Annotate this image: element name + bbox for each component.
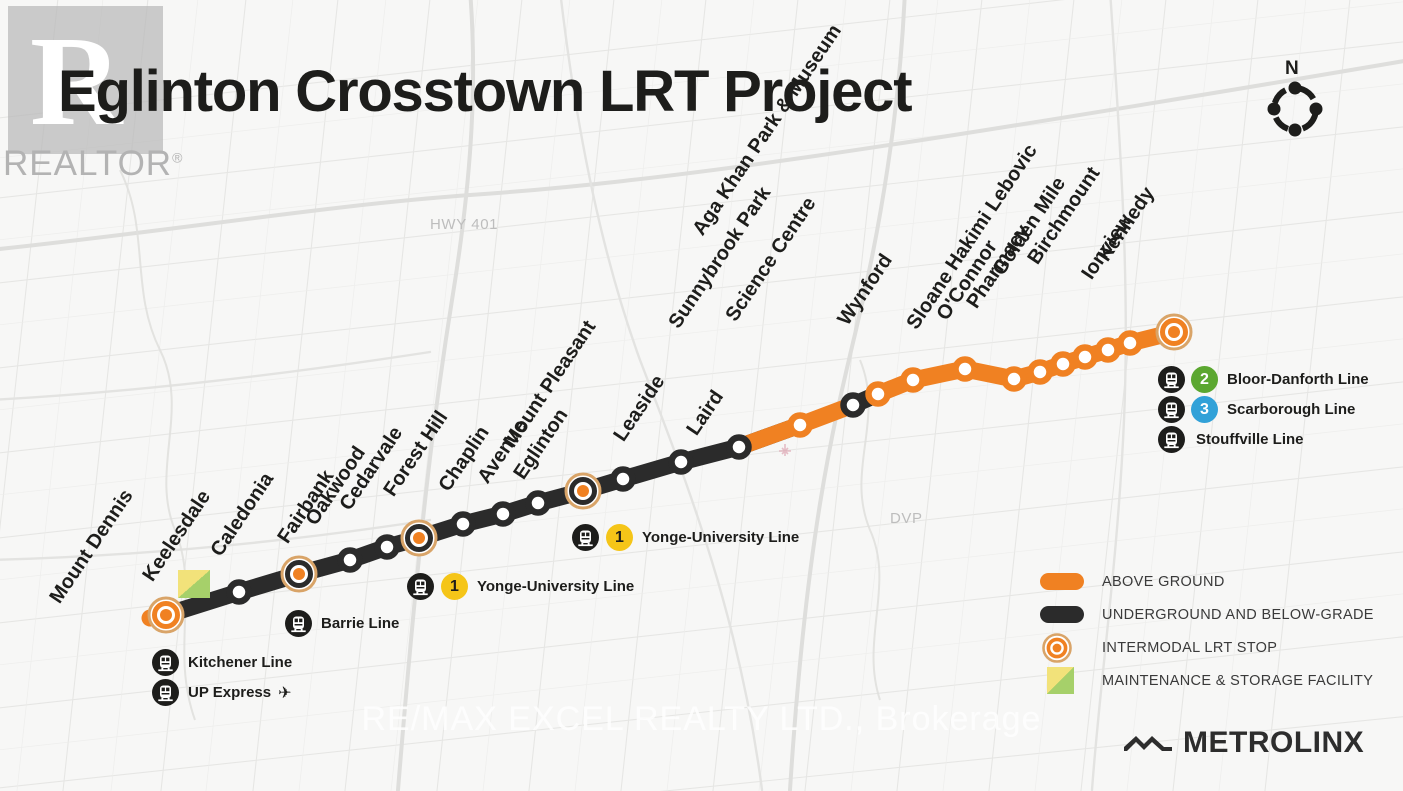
map-legend-row: MAINTENANCE & STORAGE FACILITY [1040,664,1374,697]
metrolinx-logo-icon [1122,730,1174,756]
subway-train-icon [1158,366,1185,393]
station-dot[interactable] [1099,341,1118,360]
map-legend-label: MAINTENANCE & STORAGE FACILITY [1102,673,1373,689]
maintenance-facility-icon [1047,667,1074,694]
station-dot[interactable] [791,416,810,435]
map-legend: ABOVE GROUNDUNDERGROUND AND BELOW-GRADEI… [1040,565,1374,697]
map-legend-label: UNDERGROUND AND BELOW-GRADE [1102,607,1374,623]
road-label: HWY 401 [430,216,498,233]
map-legend-row: UNDERGROUND AND BELOW-GRADE [1040,598,1374,631]
above-ground-bar [1040,573,1086,590]
station-dot[interactable] [454,515,473,534]
map-canvas: R REALTOR® Eglinton Crosstown LRT Projec… [0,0,1403,791]
above-ground-bar [1040,573,1084,590]
underground-bar [1040,606,1086,623]
station-dot[interactable] [1121,334,1140,353]
map-legend-row: INTERMODAL LRT STOP [1040,631,1374,664]
station-dot[interactable] [402,521,436,555]
underground-bar [1040,606,1084,623]
line-number-badge: 2 [1191,366,1218,393]
rail-line-callout: Barrie Line [285,610,399,637]
subway-train-icon [572,524,599,551]
transit-legend-label: Bloor-Danforth Line [1227,371,1369,388]
road-label: DVP [890,510,923,527]
station-dot[interactable] [1076,348,1095,367]
station-dot[interactable] [1054,355,1073,374]
rail-line-callout: UP Express✈ [152,679,292,706]
station-dot[interactable] [149,598,183,632]
line-number-badge: 1 [441,573,468,600]
transit-legend-row: 2Bloor-Danforth Line [1158,365,1369,394]
airplane-icon: ✈ [278,683,291,703]
transit-legend-row: 3Scarborough Line [1158,395,1369,424]
intermodal-stop-icon [1040,631,1086,665]
station-dot[interactable] [1157,315,1191,349]
rail-line-callout: 1Yonge-University Line [407,573,634,600]
transit-line-legend: 2Bloor-Danforth Line3Scarborough LineSto… [1158,365,1369,455]
station-dot[interactable] [230,583,249,602]
compass-dial-icon [1264,78,1326,140]
transit-legend-label: Scarborough Line [1227,401,1355,418]
station-dot[interactable] [1005,370,1024,389]
station-dot[interactable] [614,470,633,489]
rail-line-callout: 1Yonge-University Line [572,524,799,551]
go-train-icon [152,649,179,676]
line-number-badge: 3 [1191,396,1218,423]
subway-train-icon [1158,396,1185,423]
rail-line-label: Barrie Line [321,615,399,632]
go-train-icon [152,679,179,706]
maintenance-facility-icon [178,570,210,598]
go-train-icon [285,610,312,637]
transit-legend-label: Stouffville Line [1196,431,1304,448]
map-legend-label: INTERMODAL LRT STOP [1102,640,1277,656]
rail-line-callout: Kitchener Line [152,649,292,676]
map-legend-label: ABOVE GROUND [1102,574,1225,590]
station-dot[interactable] [956,360,975,379]
metrolinx-logo: METROLINX [1122,726,1364,760]
station-dot[interactable] [341,551,360,570]
rail-line-label: Yonge-University Line [477,578,634,595]
station-dot[interactable] [904,371,923,390]
station-dot[interactable] [1031,363,1050,382]
page-title: Eglinton Crosstown LRT Project [58,58,911,125]
go-train-icon [1158,426,1185,453]
metrolinx-wordmark: METROLINX [1183,726,1364,760]
station-dot[interactable] [282,557,316,591]
station-dot[interactable] [529,494,548,513]
station-dot[interactable] [672,453,691,472]
line-number-badge: 1 [606,524,633,551]
rail-line-label: Yonge-University Line [642,529,799,546]
station-dot[interactable] [869,385,888,404]
station-dot[interactable] [844,396,863,415]
compass-north-label: N [1285,58,1299,80]
maintenance-facility-icon [1040,667,1086,694]
map-legend-row: ABOVE GROUND [1040,565,1374,598]
subway-train-icon [407,573,434,600]
rail-line-label: Kitchener Line [188,654,292,671]
station-dot[interactable] [378,538,397,557]
station-dot[interactable] [730,438,749,457]
rail-line-label: UP Express [188,684,271,701]
station-dot[interactable] [494,505,513,524]
station-dot[interactable] [566,474,600,508]
transit-legend-row: Stouffville Line [1158,425,1369,454]
